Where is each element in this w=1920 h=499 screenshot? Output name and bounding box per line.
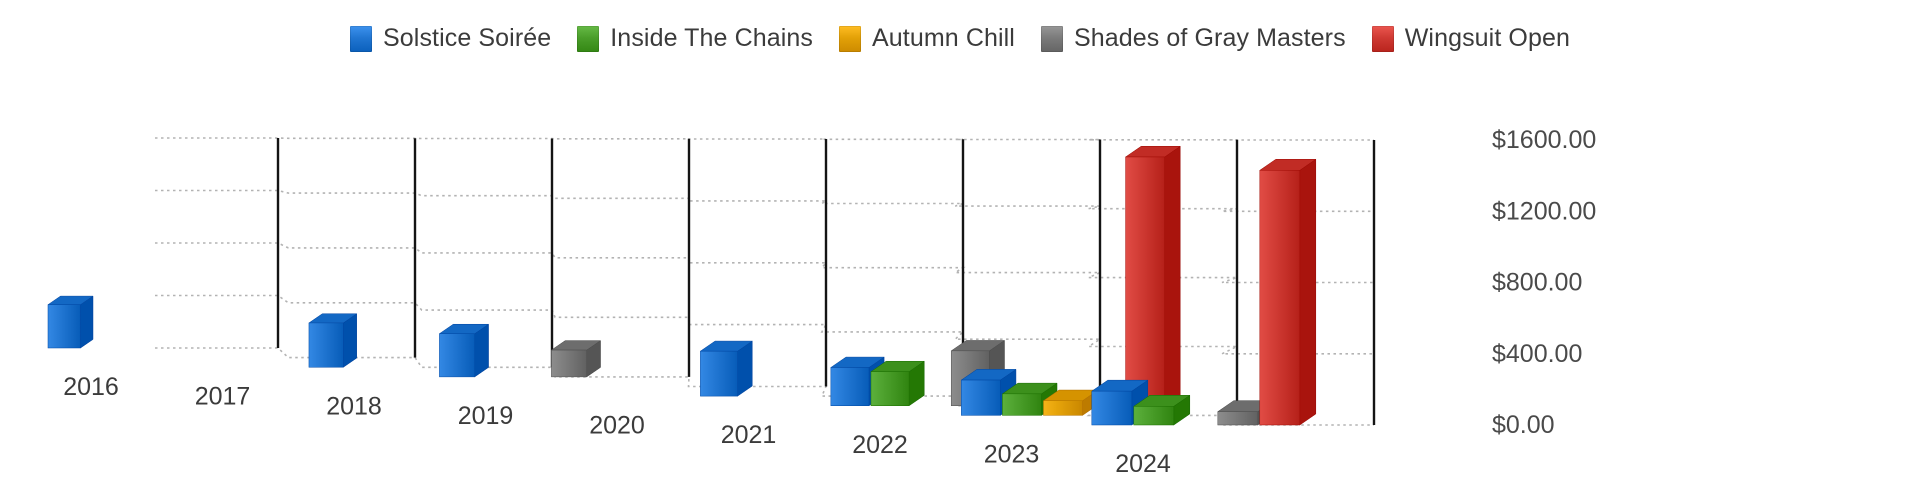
y-axis-tick-label: $800.00: [1492, 269, 1582, 297]
y-axis-labels: $0.00$400.00$800.00$1200.00$1600.00: [1492, 126, 1596, 439]
bar-inside-the-chains-2022[interactable]: [871, 361, 924, 406]
x-axis-tick-label: 2019: [458, 402, 514, 430]
gridline: [155, 243, 1374, 283]
x-axis-tick-label: 2024: [1115, 450, 1171, 478]
category-dividers: [278, 138, 1374, 425]
x-axis-tick-label: 2016: [63, 373, 119, 401]
bar-solstice-soir-e-2019[interactable]: [439, 324, 488, 377]
x-axis-tick-label: 2018: [326, 392, 382, 420]
y-axis-tick-label: $400.00: [1492, 340, 1582, 368]
x-axis-tick-label: 2021: [721, 421, 777, 449]
x-axis-tick-label: 2023: [984, 440, 1040, 468]
bar-chart-3d: $0.00$400.00$800.00$1200.00$1600.00 2016…: [0, 0, 1920, 499]
gridline: [155, 191, 1374, 212]
y-axis-tick-label: $0.00: [1492, 411, 1555, 439]
x-axis-tick-label: 2017: [195, 383, 251, 411]
chart-canvas: $0.00$400.00$800.00$1200.00$1600.00 2016…: [0, 0, 1920, 499]
gridline: [155, 138, 1374, 140]
y-axis-tick-label: $1200.00: [1492, 197, 1596, 225]
x-axis-tick-label: 2020: [589, 412, 645, 440]
bar-solstice-soir-e-2021[interactable]: [700, 341, 752, 396]
bar-solstice-soir-e-2016[interactable]: [48, 296, 93, 348]
bar-wingsuit-open-2023[interactable]: [1126, 146, 1181, 415]
gridlines: [155, 138, 1374, 425]
bar-shades-of-gray-masters-2019[interactable]: [551, 341, 600, 377]
bar-solstice-soir-e-2018[interactable]: [309, 314, 357, 368]
bar-wingsuit-open-2024[interactable]: [1260, 159, 1316, 425]
x-axis-tick-label: 2022: [852, 431, 908, 459]
y-axis-tick-label: $1600.00: [1492, 126, 1596, 154]
